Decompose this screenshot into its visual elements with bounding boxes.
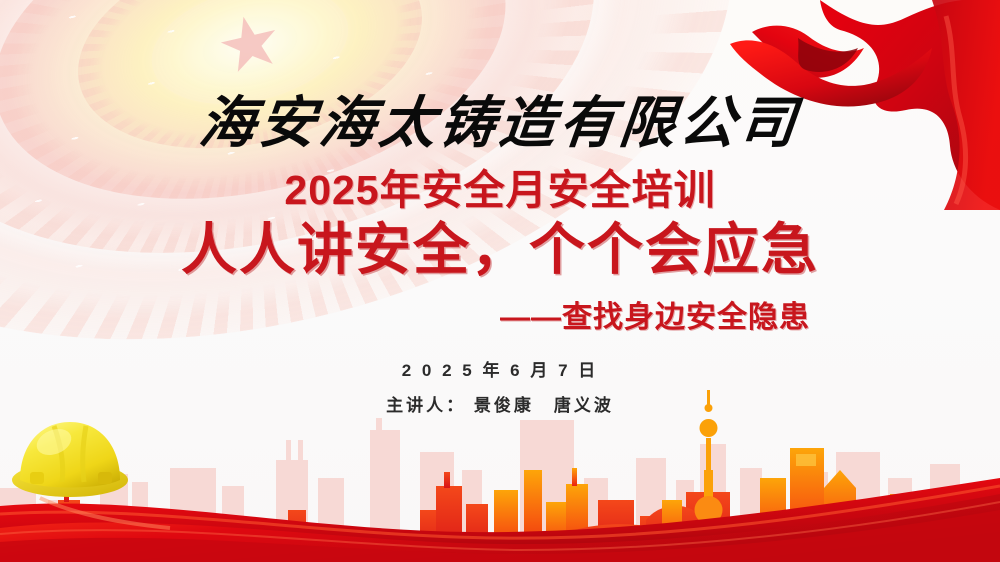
presentation-date: 2 0 2 5 年 6 月 7 日 xyxy=(0,356,1000,381)
tagline: ——查找身边安全隐患 xyxy=(500,292,810,336)
presentation-slide: 海安海太铸造有限公司 2025年安全月安全培训 人人讲安全，个个会应急 ——查找… xyxy=(0,0,1000,562)
main-slogan: 人人讲安全，个个会应急 xyxy=(0,205,1000,286)
hardhat-icon xyxy=(4,400,134,510)
skyline-and-ribbon-bottom xyxy=(0,382,1000,562)
hardhat-clip-right xyxy=(98,472,112,484)
company-title: 海安海太铸造有限公司 xyxy=(0,78,1000,159)
hardhat-clip-left xyxy=(30,472,44,484)
